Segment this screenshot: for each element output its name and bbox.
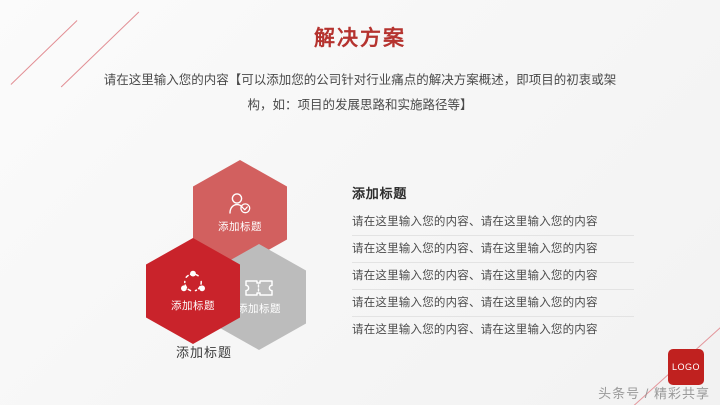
page-title: 解决方案 <box>0 22 720 52</box>
content-line: 请在这里输入您的内容、请在这里输入您的内容 <box>352 268 634 290</box>
hexagon-label-left: 添加标题 <box>171 298 215 313</box>
logo-badge: LOGO <box>668 349 704 385</box>
content-line: 请在这里输入您的内容、请在这里输入您的内容 <box>352 295 634 317</box>
content-block: 添加标题 请在这里输入您的内容、请在这里输入您的内容 请在这里输入您的内容、请在… <box>352 183 634 348</box>
hexagon-cluster-caption: 添加标题 <box>176 342 232 361</box>
hexagon-label-top: 添加标题 <box>218 219 262 234</box>
watermark-text: 头条号 / 精彩共享 <box>598 383 710 402</box>
hexagon-label-right: 添加标题 <box>237 301 281 316</box>
ticket-icon <box>244 278 274 298</box>
slide-canvas: 解决方案 请在这里输入您的内容【可以添加您的公司针对行业痛点的解决方案概述，即项… <box>0 0 720 405</box>
content-line: 请在这里输入您的内容、请在这里输入您的内容 <box>352 241 634 263</box>
content-heading: 添加标题 <box>352 183 634 202</box>
hexagon-cluster: 添加标题 添加标题 添加标题 <box>150 160 330 360</box>
content-line: 请在这里输入您的内容、请在这里输入您的内容 <box>352 322 634 343</box>
content-line: 请在这里输入您的内容、请在这里输入您的内容 <box>352 214 634 236</box>
user-check-icon <box>227 192 253 216</box>
share-network-icon <box>180 270 206 295</box>
page-subtitle: 请在这里输入您的内容【可以添加您的公司针对行业痛点的解决方案概述，即项目的初衷或… <box>95 68 625 118</box>
